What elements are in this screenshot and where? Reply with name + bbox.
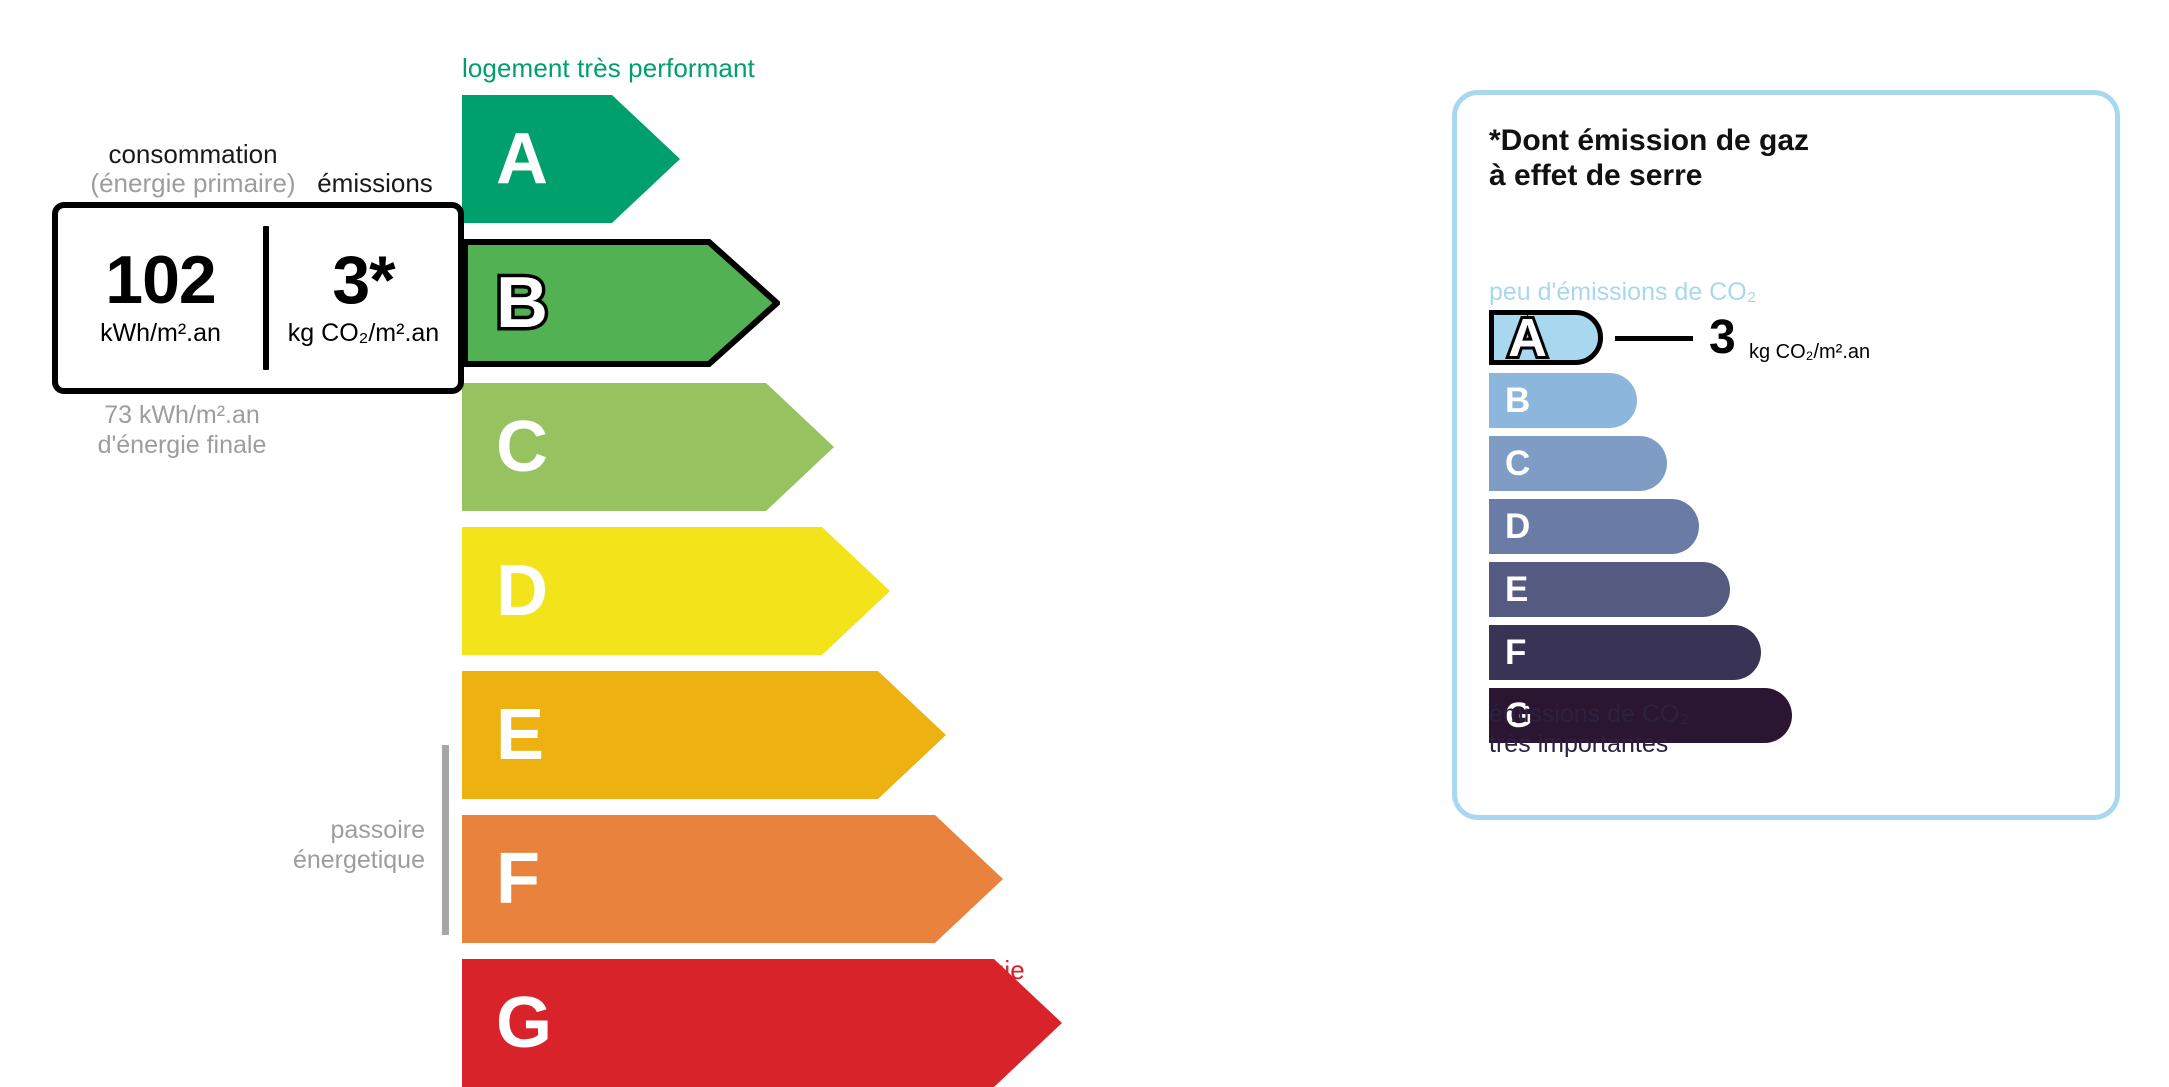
emission-value: 3*: [332, 248, 394, 313]
energy-class-bar-e: E: [462, 671, 946, 799]
co2-emissions-panel: *Dont émission de gaz à effet de serre p…: [1452, 90, 2120, 820]
emission-value-cell: 3* kg CO₂/m².an: [269, 208, 458, 388]
consumption-header: consommation (énergie primaire): [63, 140, 323, 198]
passoire-bracket: [442, 745, 449, 935]
co2-top-annotation: peu d'émissions de CO₂: [1489, 278, 1756, 307]
energy-class-letter-a: A: [496, 123, 548, 195]
energy-class-arrow-d: D: [462, 527, 890, 655]
energy-class-arrow-e: E: [462, 671, 946, 799]
emission-unit: kg CO₂/m².an: [288, 319, 439, 348]
co2-class-bar-f: F: [1489, 625, 1761, 680]
final-energy-value: 73 kWh/m².an: [62, 400, 302, 430]
co2-class-bar-a: A: [1489, 310, 1603, 365]
consumption-header-sub: (énergie primaire): [63, 169, 323, 198]
energy-class-bar-b: B: [462, 239, 780, 367]
energy-class-letter-b: B: [496, 267, 548, 339]
energy-value-box: 102 kWh/m².an 3* kg CO₂/m².an: [52, 202, 464, 394]
energy-class-letter-g: G: [496, 987, 552, 1059]
energy-class-letter-d: D: [496, 555, 548, 627]
co2-value-unit: kg CO₂/m².an: [1749, 342, 1870, 362]
primary-energy-cell: 102 kWh/m².an: [58, 208, 263, 388]
passoire-label: passoire énergetique: [230, 815, 425, 875]
energy-class-letter-f: F: [496, 843, 540, 915]
final-energy-note: 73 kWh/m².an d'énergie finale: [62, 400, 302, 460]
consumption-header-main: consommation: [108, 139, 277, 169]
passoire-label-line2: énergetique: [230, 845, 425, 875]
co2-class-bar-e: E: [1489, 562, 1730, 617]
co2-class-bar-b: B: [1489, 373, 1637, 428]
primary-energy-value: 102: [105, 248, 215, 313]
energy-class-arrow-c: C: [462, 383, 834, 511]
primary-energy-unit: kWh/m².an: [100, 319, 221, 348]
co2-class-letter-d: D: [1505, 509, 1530, 544]
energy-performance-panel: logement très performant consommation (é…: [0, 0, 1400, 1079]
energy-class-arrow-shape-a: [462, 95, 680, 223]
energy-top-annotation: logement très performant: [462, 53, 755, 84]
passoire-label-line1: passoire: [230, 815, 425, 845]
co2-class-letter-a: A: [1508, 311, 1547, 365]
co2-class-letter-c: C: [1505, 446, 1530, 481]
final-energy-label: d'énergie finale: [62, 430, 302, 460]
co2-panel-title: *Dont émission de gaz à effet de serre: [1489, 123, 1809, 194]
co2-class-bar-c: C: [1489, 436, 1667, 491]
co2-class-bar-shape-e: E: [1489, 562, 1730, 617]
energy-class-bar-c: C: [462, 383, 834, 511]
co2-class-letter-b: B: [1505, 383, 1530, 418]
co2-class-bar-shape-a: A: [1489, 310, 1603, 365]
energy-class-letter-e: E: [496, 699, 544, 771]
energy-class-arrow-b: B: [462, 239, 780, 367]
co2-class-letter-e: E: [1505, 572, 1528, 607]
energy-class-bar-a: A: [462, 95, 680, 223]
co2-class-letter-f: F: [1505, 635, 1526, 670]
co2-class-bar-shape-d: D: [1489, 499, 1699, 554]
energy-class-bar-d: D: [462, 527, 890, 655]
energy-class-letter-c: C: [496, 411, 548, 483]
co2-class-bar-shape-f: F: [1489, 625, 1761, 680]
co2-class-bar-shape-c: C: [1489, 436, 1667, 491]
energy-class-arrow-a: A: [462, 95, 680, 223]
energy-class-arrow-f: F: [462, 815, 1003, 943]
co2-leader-line: [1615, 336, 1693, 341]
energy-class-bar-f: F: [462, 815, 1003, 943]
co2-class-bar-d: D: [1489, 499, 1699, 554]
co2-class-bar-shape-b: B: [1489, 373, 1637, 428]
emissions-header: émissions: [300, 168, 450, 199]
energy-class-arrow-shape-f: [462, 815, 1003, 943]
co2-value: 3: [1709, 314, 1736, 362]
energy-bottom-annotation: logement extrêmement consommateur d'éner…: [462, 955, 1025, 986]
co2-bottom-annotation: émissions de CO₂ très importantes: [1489, 700, 1689, 759]
